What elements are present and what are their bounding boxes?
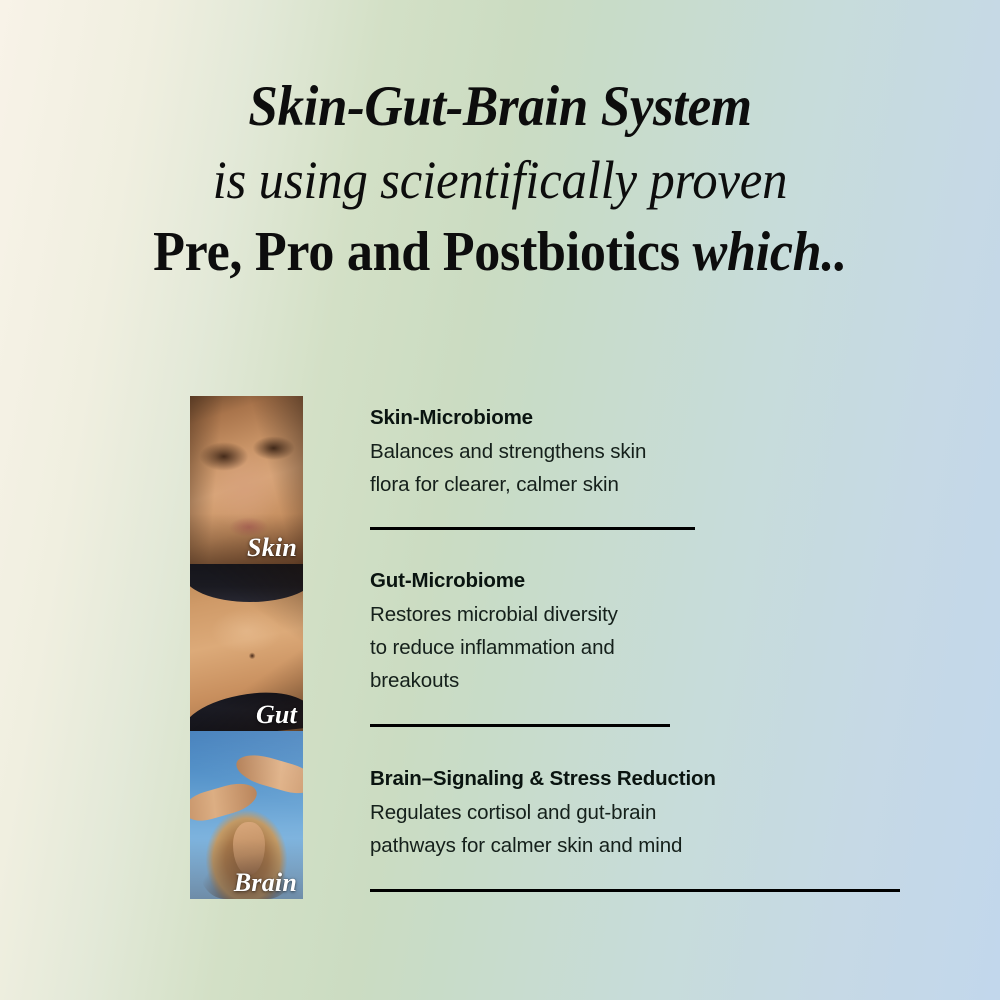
- benefit-title-brain: Brain–Signaling & Stress Reduction: [370, 766, 930, 792]
- photo-brain: Brain: [190, 731, 303, 899]
- headline-line-3-bold: Pre, Pro and Postbiotics: [153, 221, 680, 283]
- headline-line-3-italic: which..: [693, 221, 847, 283]
- photo-strip: Skin Gut Brain: [190, 396, 303, 899]
- headline-line-1: Skin-Gut-Brain System: [35, 78, 965, 136]
- benefit-divider-1: [370, 527, 695, 530]
- benefit-divider-3: [370, 889, 900, 892]
- headline-line-3: Pre, Pro and Postbiotics which..: [35, 224, 965, 281]
- benefit-item-brain: Brain–Signaling & Stress Reduction Regul…: [370, 766, 930, 892]
- arm-right-shape: [233, 749, 303, 799]
- poster-canvas: Skin-Gut-Brain System is using scientifi…: [0, 0, 1000, 1000]
- arm-left-shape: [190, 778, 260, 826]
- photo-label-gut: Gut: [256, 702, 297, 728]
- benefit-desc-gut: Restores microbial diversity to reduce i…: [370, 598, 930, 698]
- benefit-desc-brain: Regulates cortisol and gut-brain pathway…: [370, 796, 930, 862]
- photo-label-skin: Skin: [247, 535, 297, 561]
- page-title: Skin-Gut-Brain System is using scientifi…: [0, 78, 1000, 281]
- photo-skin: Skin: [190, 396, 303, 564]
- benefit-desc-skin: Balances and strengthens skin flora for …: [370, 435, 930, 501]
- benefit-title-skin: Skin-Microbiome: [370, 405, 930, 431]
- benefit-item-gut: Gut-Microbiome Restores microbial divers…: [370, 568, 930, 727]
- benefit-divider-2: [370, 724, 670, 727]
- benefit-list: Skin-Microbiome Balances and strengthens…: [370, 405, 930, 892]
- headline-line-2: is using scientifically proven: [30, 153, 970, 208]
- benefit-item-skin: Skin-Microbiome Balances and strengthens…: [370, 405, 930, 530]
- photo-gut: Gut: [190, 564, 303, 732]
- photo-label-brain: Brain: [234, 870, 297, 896]
- benefit-title-gut: Gut-Microbiome: [370, 568, 930, 594]
